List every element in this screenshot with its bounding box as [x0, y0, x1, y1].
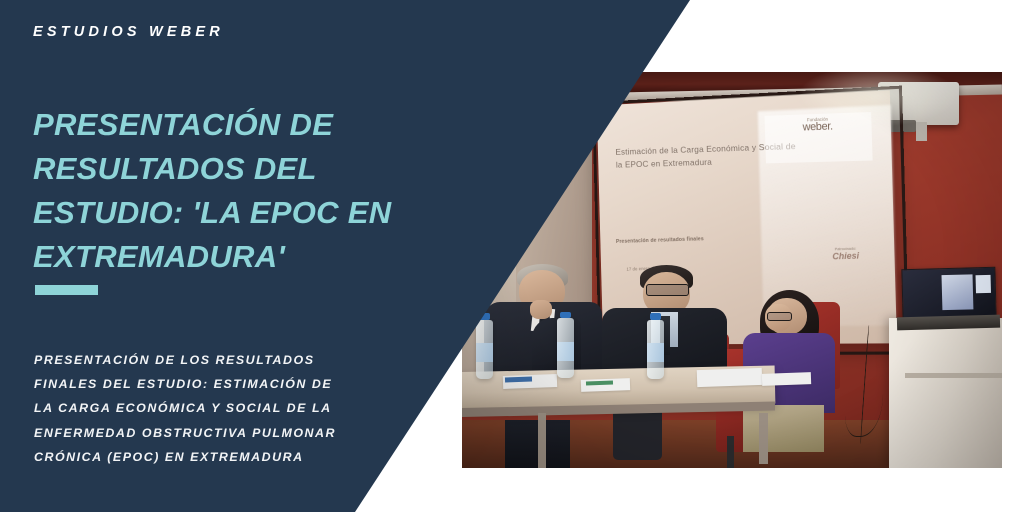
page-title: PRESENTACIÓN DE RESULTADOS DEL ESTUDIO: … [33, 103, 453, 279]
brand-eyebrow: ESTUDIOS WEBER [33, 24, 224, 40]
accent-rule [35, 285, 98, 295]
body-copy: PRESENTACIÓN DE LOS RESULTADOS FINALES D… [34, 348, 346, 469]
promo-slide: Estimación de la Carga Económica y Socia… [0, 0, 1024, 512]
